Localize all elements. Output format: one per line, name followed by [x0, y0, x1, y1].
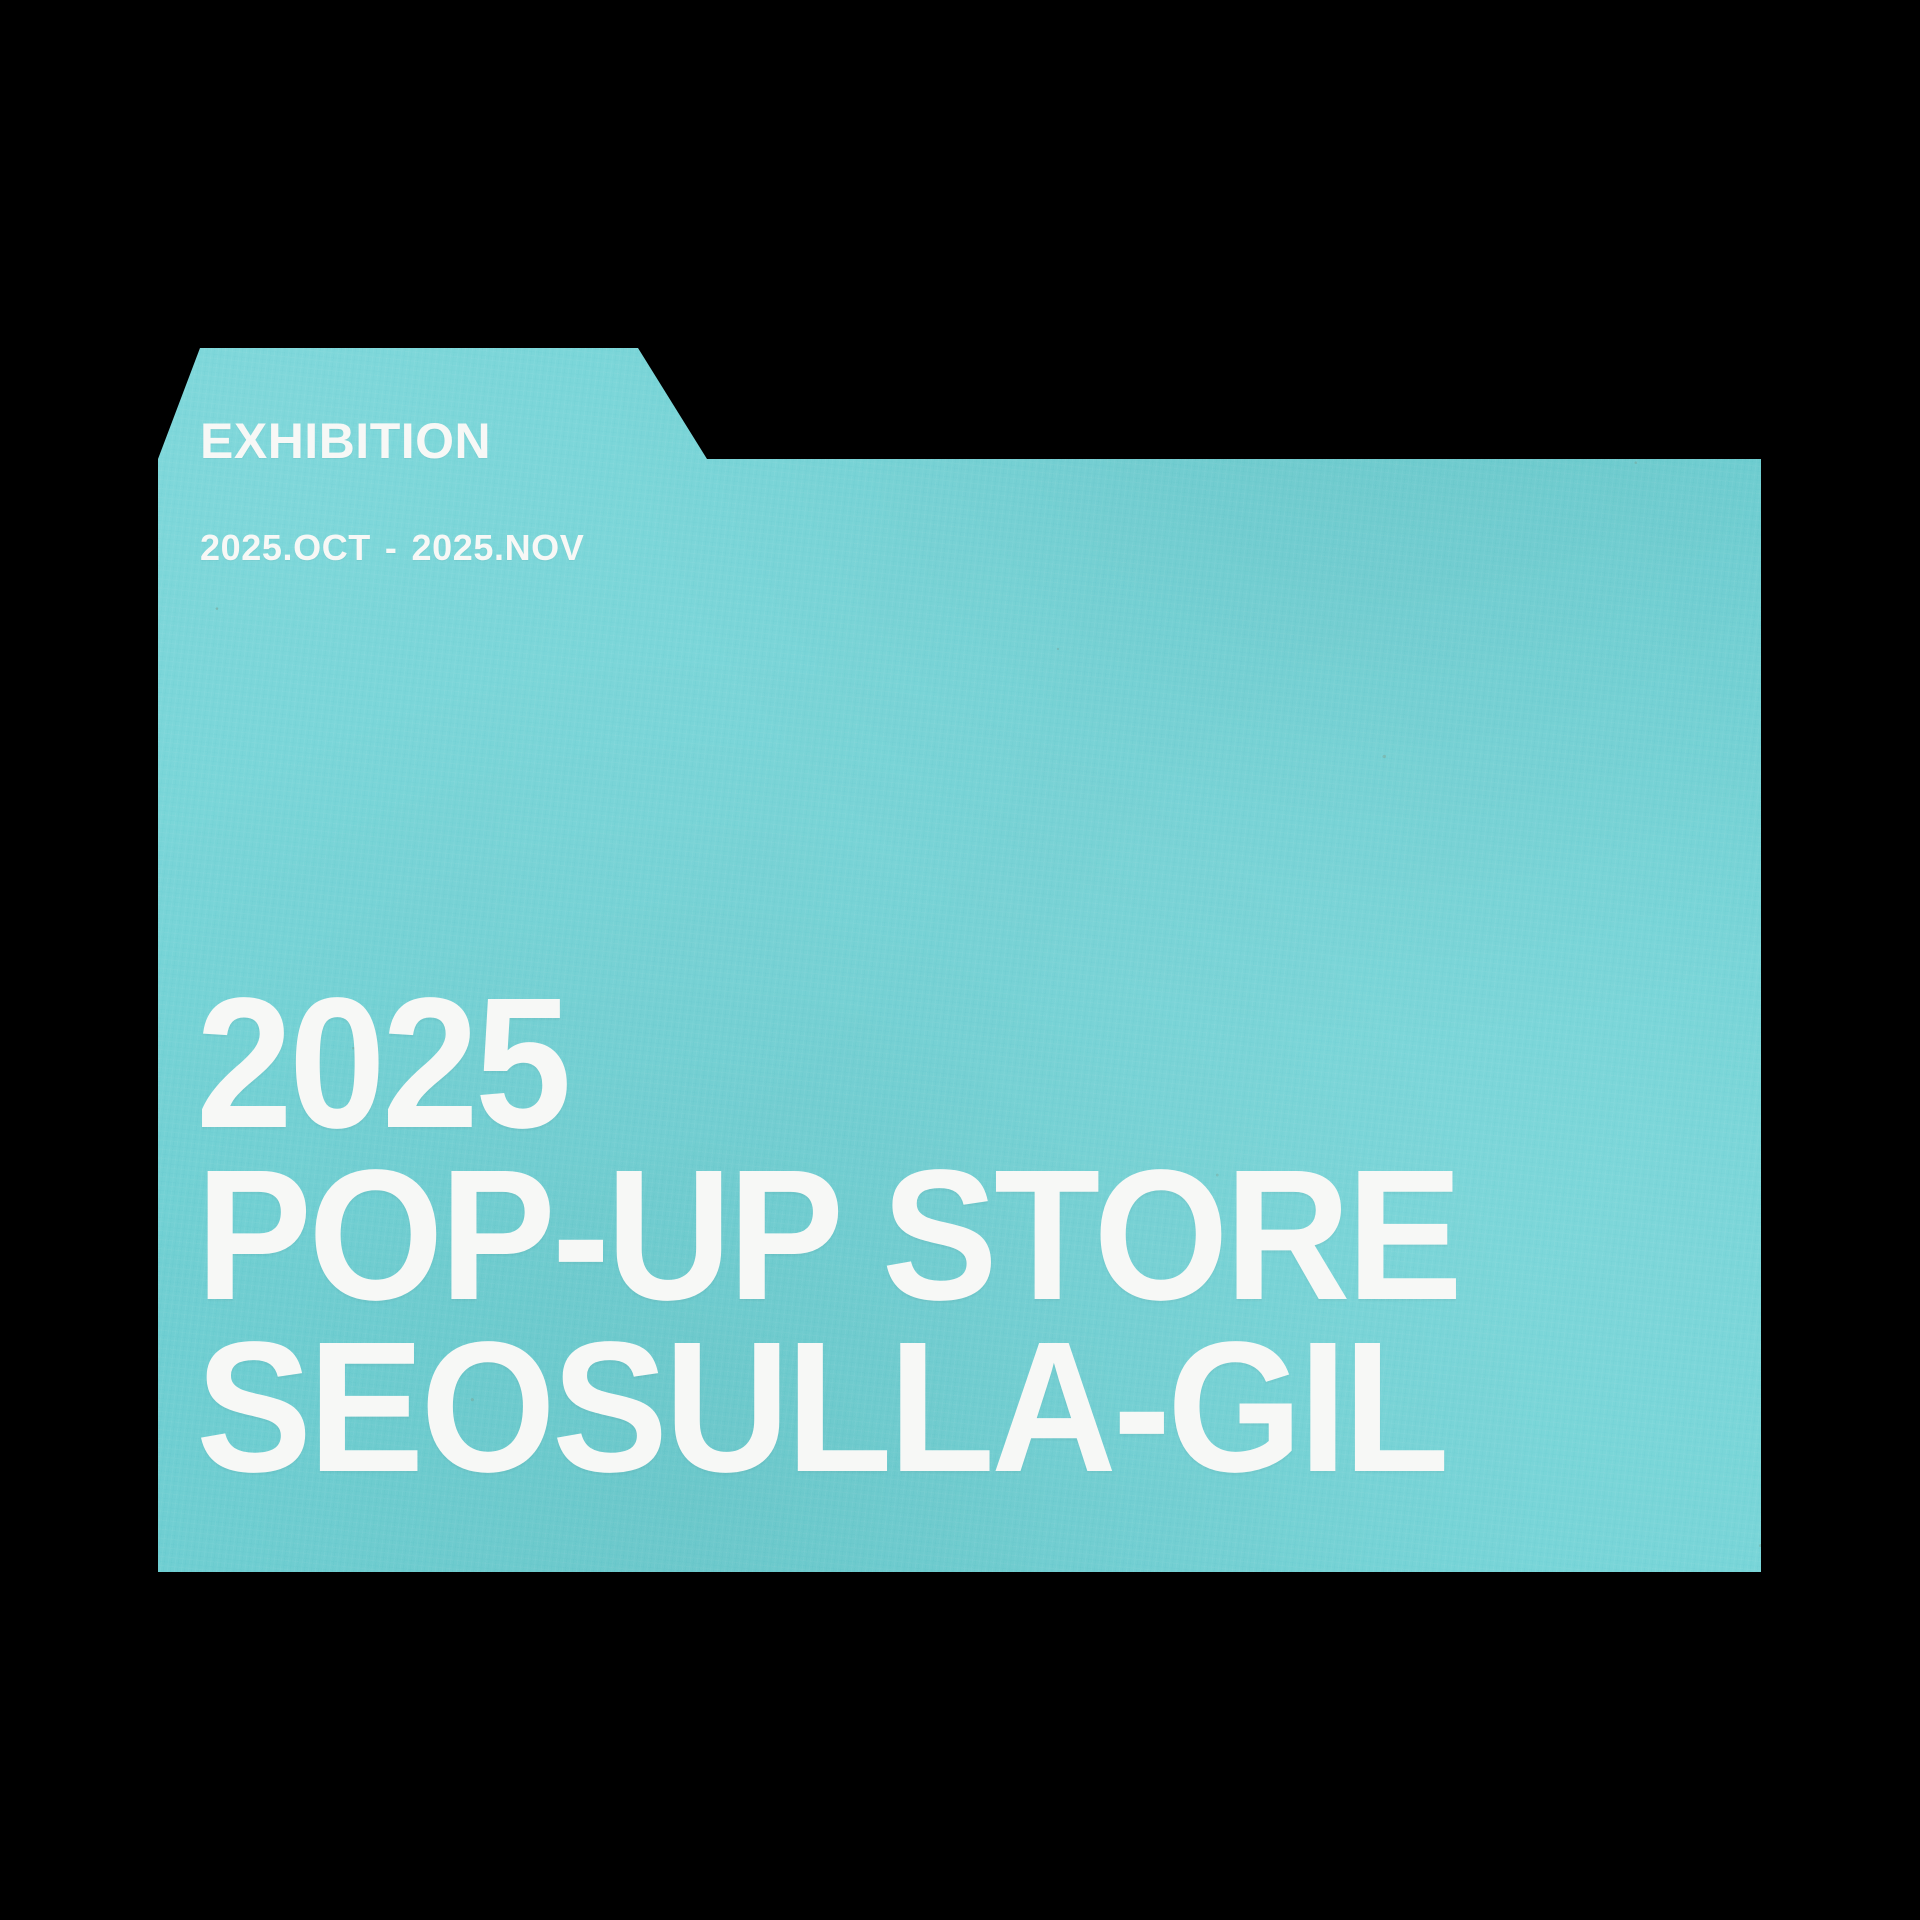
headline-line-2: POP-UP STORE	[196, 1150, 1459, 1322]
date-end: 2025.NOV	[411, 527, 584, 568]
exhibition-date-range: 2025.OCT-2025.NOV	[200, 530, 584, 566]
headline-line-1: 2025	[196, 978, 1459, 1150]
headline-block: 2025 POP-UP STORE SEOSULLA-GIL	[196, 978, 1547, 1494]
date-start: 2025.OCT	[200, 527, 371, 568]
tab-label-exhibition: EXHIBITION	[200, 416, 491, 466]
headline-line-3: SEOSULLA-GIL	[196, 1322, 1459, 1494]
date-separator: -	[371, 527, 412, 568]
exhibition-card: EXHIBITION 2025.OCT-2025.NOV 2025 POP-UP…	[0, 0, 1920, 1920]
poster-stage: EXHIBITION 2025.OCT-2025.NOV 2025 POP-UP…	[0, 0, 1920, 1920]
